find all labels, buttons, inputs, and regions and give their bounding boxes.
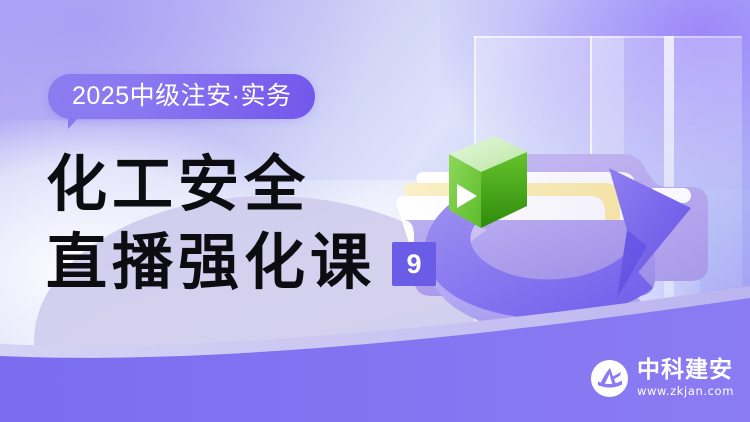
headline-line-2: 直播强化课 bbox=[46, 230, 376, 298]
headline-line-2-row: 直播强化课 9 bbox=[46, 230, 436, 298]
brand-name: 中科建安 bbox=[637, 358, 734, 382]
course-tag-pointer bbox=[68, 117, 88, 129]
headline-line-1-row: 化工安全 bbox=[46, 152, 436, 220]
banner-content: 2025中级注安·实务 化工安全 直播强化课 9 bbox=[0, 0, 750, 422]
brand-logo-mark-icon bbox=[591, 360, 628, 397]
headline-line-1: 化工安全 bbox=[46, 152, 310, 219]
course-tag-pill[interactable]: 2025中级注安·实务 bbox=[48, 74, 315, 119]
brand-url: www.zkjan.com bbox=[637, 384, 734, 398]
course-banner: 2025中级注安·实务 化工安全 直播强化课 9 bbox=[0, 0, 750, 422]
course-tag-wrapper: 2025中级注安·实务 bbox=[48, 74, 315, 119]
brand-logo-text: 中科建安 www.zkjan.com bbox=[637, 358, 734, 398]
episode-number-badge: 9 bbox=[392, 242, 436, 286]
headline-block: 化工安全 直播强化课 9 bbox=[46, 152, 436, 298]
brand-logo[interactable]: 中科建安 www.zkjan.com bbox=[591, 358, 734, 398]
